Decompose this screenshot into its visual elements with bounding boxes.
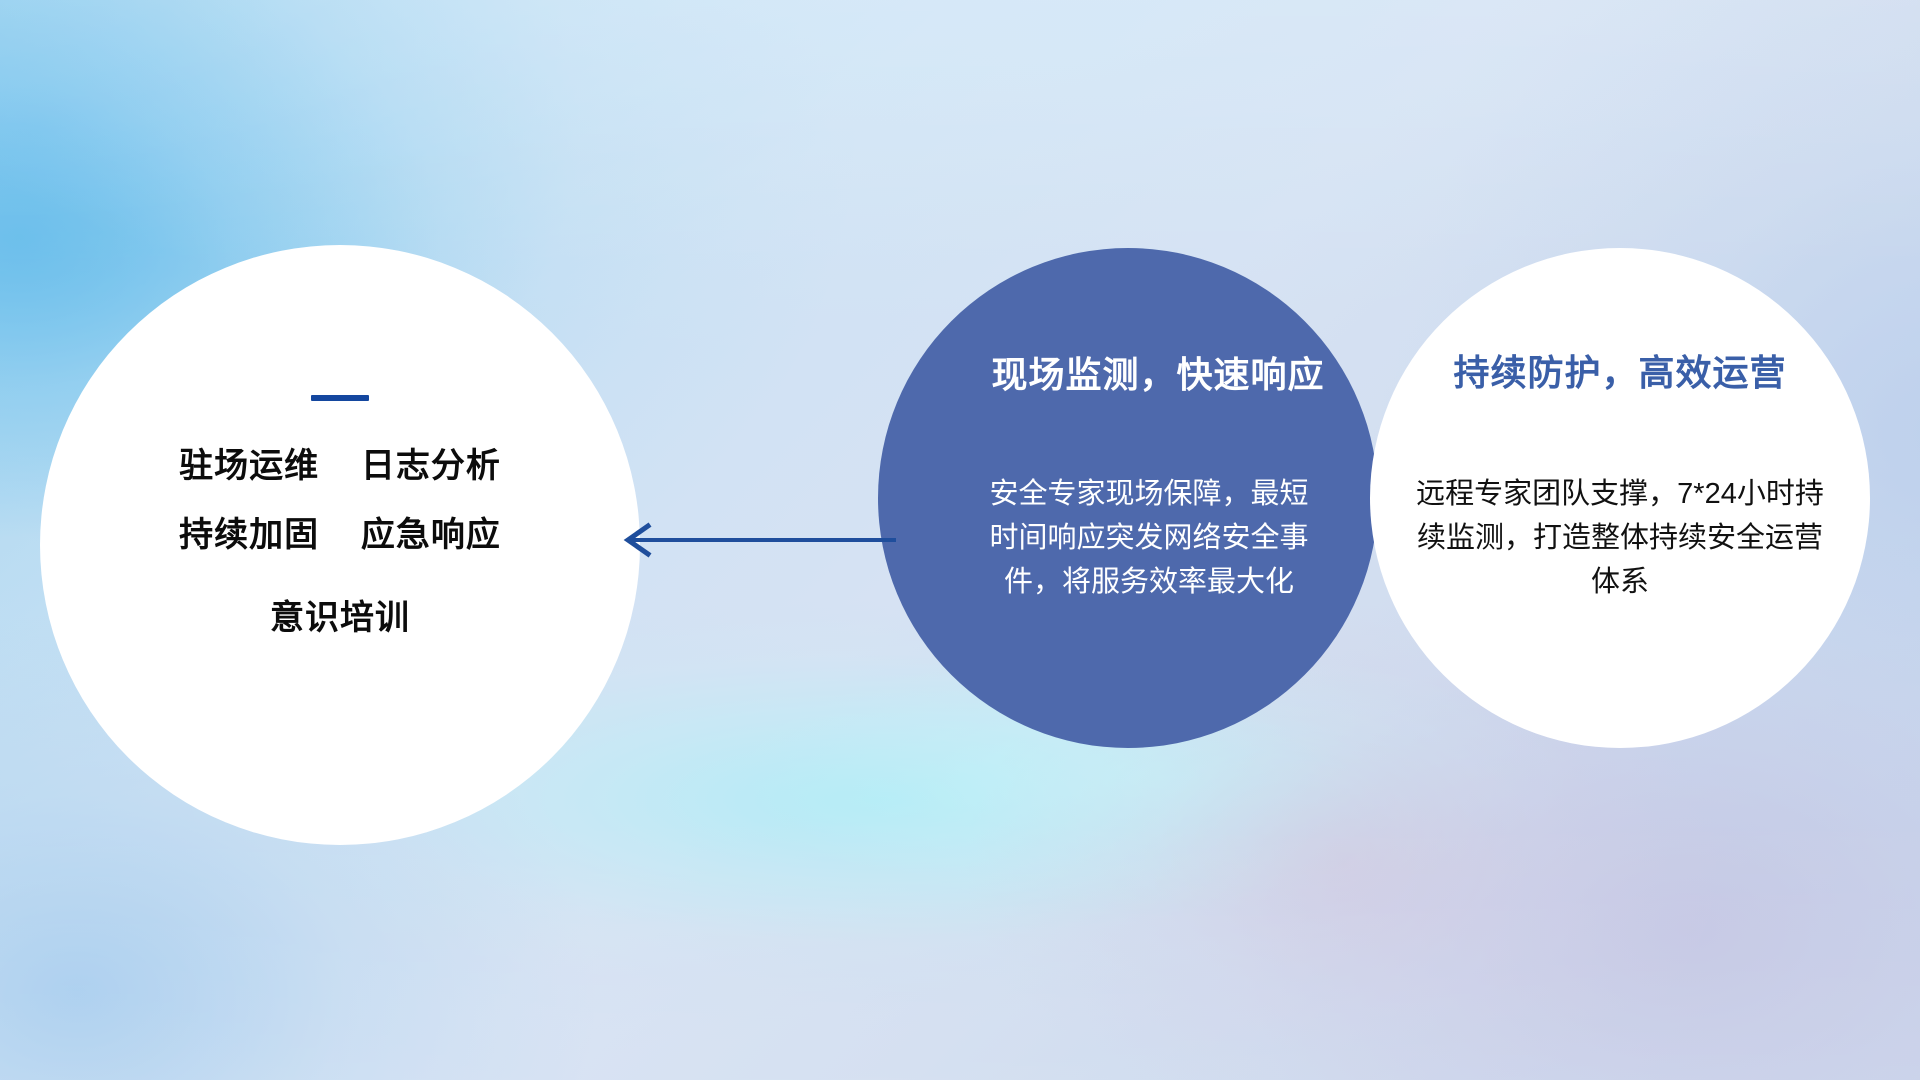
- right-circle-title: 持续防护，高效运营: [1453, 344, 1786, 396]
- right-circle-content: 持续防护，高效运营 远程专家团队支撑，7*24小时持续监测，打造整体持续安全运营…: [1370, 248, 1870, 748]
- left-keyword-line-1: 驻场运维 日志分析: [179, 449, 501, 483]
- middle-circle-body: 安全专家现场保障，最短时间响应突发网络安全事件，将服务效率最大化: [984, 472, 1314, 604]
- left-pointing-arrow: [610, 518, 900, 562]
- left-circle-content: 驻场运维 日志分析 持续加固 应急响应 意识培训: [40, 245, 640, 845]
- middle-circle-title: 现场监测，快速响应: [991, 346, 1324, 398]
- horizontal-rule-divider-icon: [311, 395, 369, 401]
- left-keyword-line-2: 持续加固 应急响应: [179, 518, 501, 552]
- middle-circle-content: 现场监测，快速响应 安全专家现场保障，最短时间响应突发网络安全事件，将服务效率最…: [878, 248, 1378, 748]
- slide-canvas: 驻场运维 日志分析 持续加固 应急响应 意识培训 现场监测，快速响应 安全专家现…: [0, 0, 1920, 1080]
- right-circle-body: 远程专家团队支撑，7*24小时持续监测，打造整体持续安全运营体系: [1405, 472, 1835, 604]
- left-keyword-line-3: 意识培训: [270, 601, 410, 635]
- arrow-icon: [610, 518, 900, 562]
